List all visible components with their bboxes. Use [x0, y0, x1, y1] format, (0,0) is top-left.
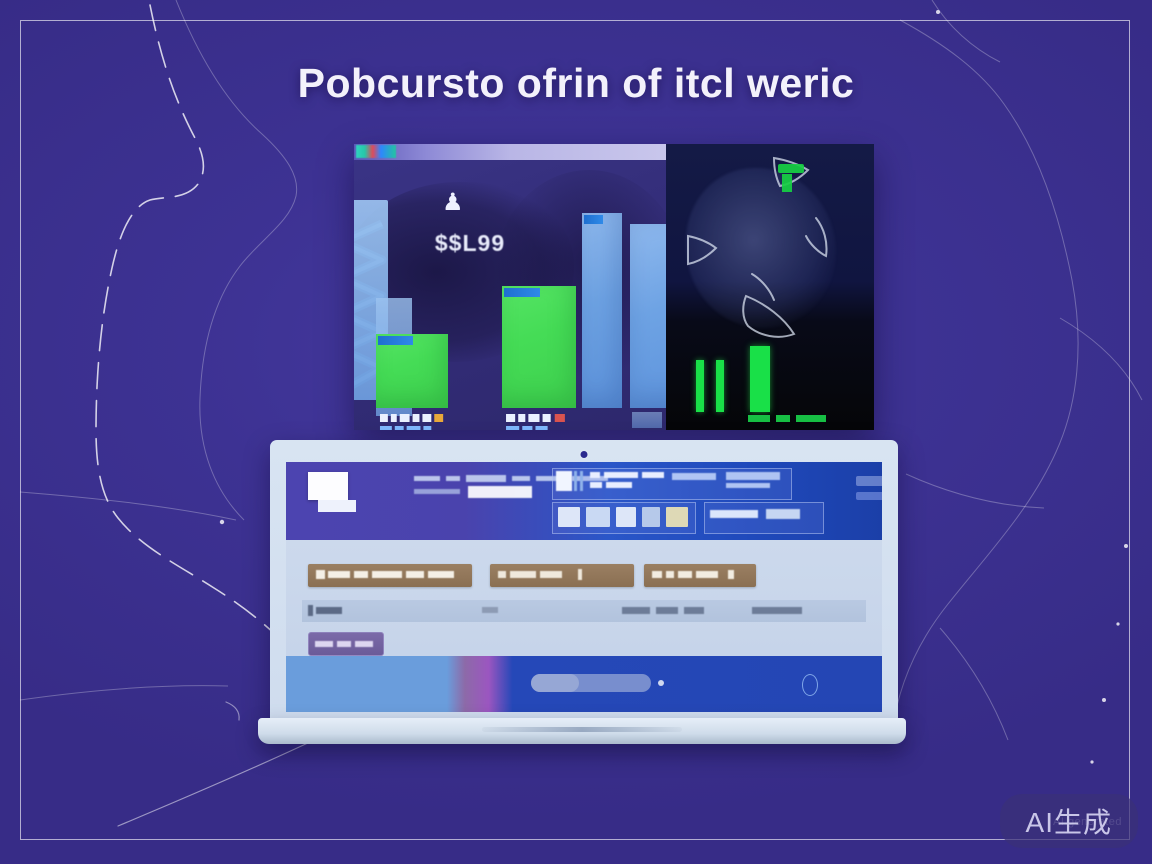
green-bar-2	[716, 360, 724, 412]
font-icon[interactable]	[558, 507, 580, 527]
editing-subtext	[856, 492, 882, 500]
laptop-lid	[270, 440, 898, 722]
green-chip-1	[748, 415, 770, 422]
clipboard-group-text	[556, 471, 788, 497]
bar-2	[502, 286, 576, 408]
app-icon	[356, 145, 396, 158]
document-icon	[308, 472, 348, 500]
toolbar-button-3-label	[652, 569, 748, 581]
dark-preview-panel	[666, 144, 874, 430]
page-title: Pobcursto ofrin of itcl weric	[0, 60, 1152, 107]
table-header-cell-1	[308, 605, 344, 616]
watermark-label: AI生成	[1026, 801, 1112, 841]
green-bar-3	[750, 346, 770, 412]
styles-group-text	[710, 508, 816, 524]
ribbon-toolbar[interactable]	[286, 462, 882, 540]
bar-3	[582, 213, 622, 408]
trackpad-notch	[482, 727, 682, 732]
bar-1-cap	[378, 336, 413, 345]
editing-label	[856, 476, 882, 486]
circle-icon	[802, 674, 818, 696]
document-content-area	[286, 540, 882, 656]
bar-3-cap	[584, 215, 603, 224]
bar-1	[376, 334, 448, 408]
table-header-row	[302, 600, 866, 622]
toolbar-button-3[interactable]	[644, 564, 756, 587]
list-icon[interactable]	[642, 507, 660, 527]
paragraph-icon[interactable]	[586, 507, 610, 527]
toolbar-button-2[interactable]	[490, 564, 634, 587]
green-indicator-strip	[682, 352, 842, 422]
laptop-screen	[286, 462, 882, 712]
laptop-mockup	[258, 440, 906, 780]
toolbar-button-2-label	[498, 569, 626, 581]
document-icon-shadow	[318, 500, 356, 512]
green-chip-2	[776, 415, 790, 422]
align-icon[interactable]	[616, 507, 636, 527]
bar-2-label	[504, 412, 575, 430]
toolbar-button-1-label	[316, 569, 462, 581]
webcam-icon	[581, 451, 588, 458]
green-chip-3	[796, 415, 826, 422]
chart-panel: ♟ $$L99	[354, 144, 874, 430]
laptop-base	[258, 718, 906, 744]
watermark-badge: AI生成	[1000, 794, 1138, 848]
list-item-tag-1[interactable]	[308, 632, 384, 656]
poster-canvas: Pobcursto ofrin of itcl weric ♟ $$L99	[0, 0, 1152, 864]
progress-fill	[531, 674, 579, 692]
toolbar-button-1[interactable]	[308, 564, 472, 587]
table-header-cell-4	[752, 605, 808, 616]
bar-2-cap	[504, 288, 540, 297]
progress-handle[interactable]	[658, 680, 664, 686]
table-header-cell-2	[482, 605, 522, 616]
highlight-icon[interactable]	[666, 507, 688, 527]
green-bar-1	[696, 360, 704, 412]
decor-column-c	[632, 412, 662, 428]
status-footer-bar	[286, 656, 882, 712]
bar-1-label	[378, 412, 447, 430]
list-item-tag-1-label	[315, 639, 377, 649]
table-header-cell-3	[622, 605, 712, 616]
